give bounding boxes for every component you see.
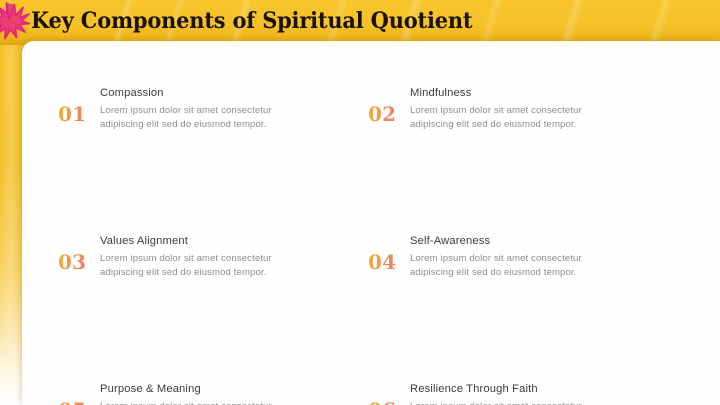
item-number: 04 (368, 234, 400, 272)
content-card: 01 Compassion Lorem ipsum dolor sit amet… (22, 41, 720, 405)
presentation-slide: 01 Compassion Lorem ipsum dolor sit amet… (0, 0, 720, 405)
item-description: Lorem ipsum dolor sit amet consectetur a… (100, 252, 315, 280)
item-title: Compassion (100, 86, 360, 101)
item-description: Lorem ipsum dolor sit amet consectetur a… (410, 400, 625, 405)
item-description: Lorem ipsum dolor sit amet consectetur a… (100, 400, 315, 405)
flower-starburst-icon (0, 0, 31, 42)
item-description: Lorem ipsum dolor sit amet consectetur a… (100, 104, 315, 132)
item-number: 05 (58, 382, 90, 405)
item-title: Resilience Through Faith (410, 382, 670, 397)
list-item[interactable]: 02 Mindfulness Lorem ipsum dolor sit ame… (368, 86, 670, 132)
item-title: Self-Awareness (410, 234, 670, 249)
item-title: Purpose & Meaning (100, 382, 360, 397)
item-body: Compassion Lorem ipsum dolor sit amet co… (100, 86, 360, 132)
item-body: Self-Awareness Lorem ipsum dolor sit ame… (410, 234, 670, 280)
page-title: Key Components of Spiritual Quotient (31, 8, 472, 34)
item-body: Resilience Through Faith Lorem ipsum dol… (410, 382, 670, 405)
list-item[interactable]: 05 Purpose & Meaning Lorem ipsum dolor s… (58, 382, 360, 405)
left-accent-stripe (0, 0, 24, 405)
list-item[interactable]: 06 Resilience Through Faith Lorem ipsum … (368, 382, 670, 405)
item-description: Lorem ipsum dolor sit amet consectetur a… (410, 252, 625, 280)
item-number: 01 (58, 86, 90, 124)
components-grid: 01 Compassion Lorem ipsum dolor sit amet… (58, 86, 670, 405)
item-title: Values Alignment (100, 234, 360, 249)
item-number: 03 (58, 234, 90, 272)
item-body: Purpose & Meaning Lorem ipsum dolor sit … (100, 382, 360, 405)
item-description: Lorem ipsum dolor sit amet consectetur a… (410, 104, 625, 132)
item-number: 06 (368, 382, 400, 405)
list-item[interactable]: 04 Self-Awareness Lorem ipsum dolor sit … (368, 234, 670, 280)
item-number: 02 (368, 86, 400, 124)
item-title: Mindfulness (410, 86, 670, 101)
item-body: Values Alignment Lorem ipsum dolor sit a… (100, 234, 360, 280)
list-item[interactable]: 03 Values Alignment Lorem ipsum dolor si… (58, 234, 360, 280)
item-body: Mindfulness Lorem ipsum dolor sit amet c… (410, 86, 670, 132)
list-item[interactable]: 01 Compassion Lorem ipsum dolor sit amet… (58, 86, 360, 132)
